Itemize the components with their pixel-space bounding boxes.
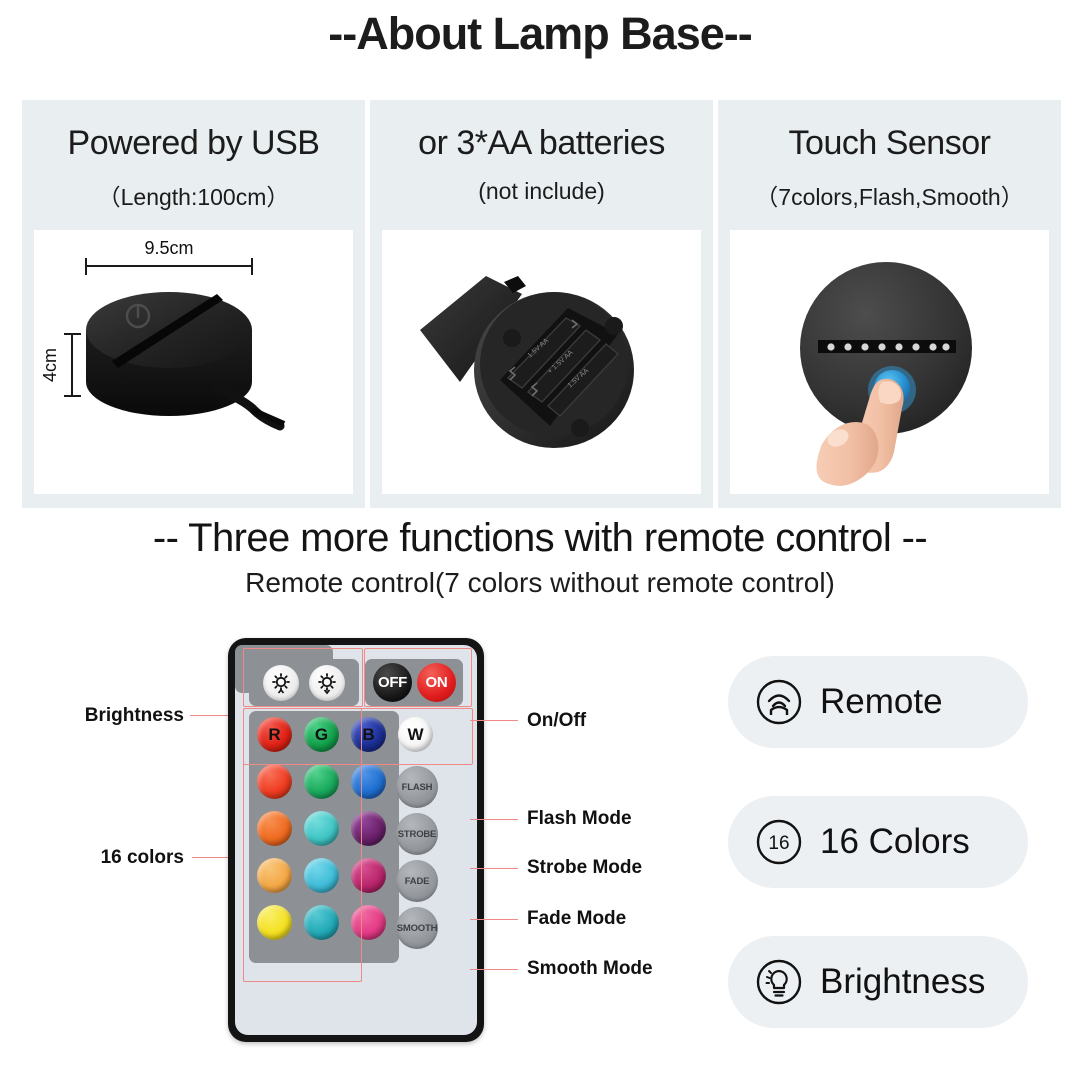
panel-touch-sensor: Touch Sensor （7colors,Flash,Smooth） [718,100,1061,508]
battery-compartment-photo: 1.5V AA + 1.5V AA 1.5V AA [382,230,701,494]
feature-label: 16 Colors [820,822,970,862]
section-remote-subtitle: Remote control(7 colors without remote c… [0,567,1080,599]
callout-smooth-mode: Smooth Mode [527,958,653,980]
strobe-mode-button[interactable]: STROBE [396,813,438,855]
panel-title: Touch Sensor [718,124,1061,163]
annotation-box-rgbw [243,708,473,765]
feature-label: Remote [820,682,943,722]
feature-label: Brightness [820,962,985,1002]
callout-flash-mode: Flash Mode [527,808,632,830]
callout-on-off: On/Off [527,710,586,732]
smooth-mode-button[interactable]: SMOOTH [396,907,438,949]
panel-subtitle: （Length:100cm） [22,178,365,212]
panel-subtitle: （7colors,Flash,Smooth） [718,178,1061,212]
panel-title: Powered by USB [22,124,365,163]
sixteen-circle-icon: 16 [754,817,804,867]
feature-pill-16-colors[interactable]: 16 16 Colors [728,796,1028,888]
callout-line-flash [470,819,518,820]
panel-aa-batteries: or 3*AA batteries (not include) [370,100,713,508]
sixteen-badge-text: 16 [768,833,789,854]
lamp-base-dimensions-photo: 9.5cm 4cm [34,230,353,494]
dimension-width-label: 9.5cm [144,238,193,258]
callout-line-fade [470,919,518,920]
remote-signal-icon [754,677,804,727]
touch-sensor-finger-photo [730,230,1049,494]
callout-line-smooth [470,969,518,970]
panel-title: or 3*AA batteries [370,124,713,163]
feature-pill-brightness[interactable]: Brightness [728,936,1028,1028]
fade-mode-button[interactable]: FADE [396,860,438,902]
callout-fade-mode: Fade Mode [527,908,626,930]
flash-mode-button[interactable]: FLASH [396,766,438,808]
feature-pill-remote[interactable]: Remote [728,656,1028,748]
callout-strobe-mode: Strobe Mode [527,857,642,879]
callout-brightness: Brightness [74,705,184,727]
callout-line-strobe [470,868,518,869]
callout-16-colors: 16 colors [86,847,184,869]
page-title: --About Lamp Base-- [0,8,1080,60]
annotation-box-brightness [243,648,363,707]
annotation-box-power [364,648,472,707]
panel-powered-by-usb: Powered by USB （Length:100cm） [22,100,365,508]
dimension-height-label: 4cm [40,348,60,382]
panel-subtitle: (not include) [370,178,713,205]
section-remote-title: -- Three more functions with remote cont… [0,516,1080,561]
bulb-brightness-icon [754,957,804,1007]
callout-line-on-off [470,720,518,721]
info-panels: Powered by USB （Length:100cm） [22,100,1060,508]
